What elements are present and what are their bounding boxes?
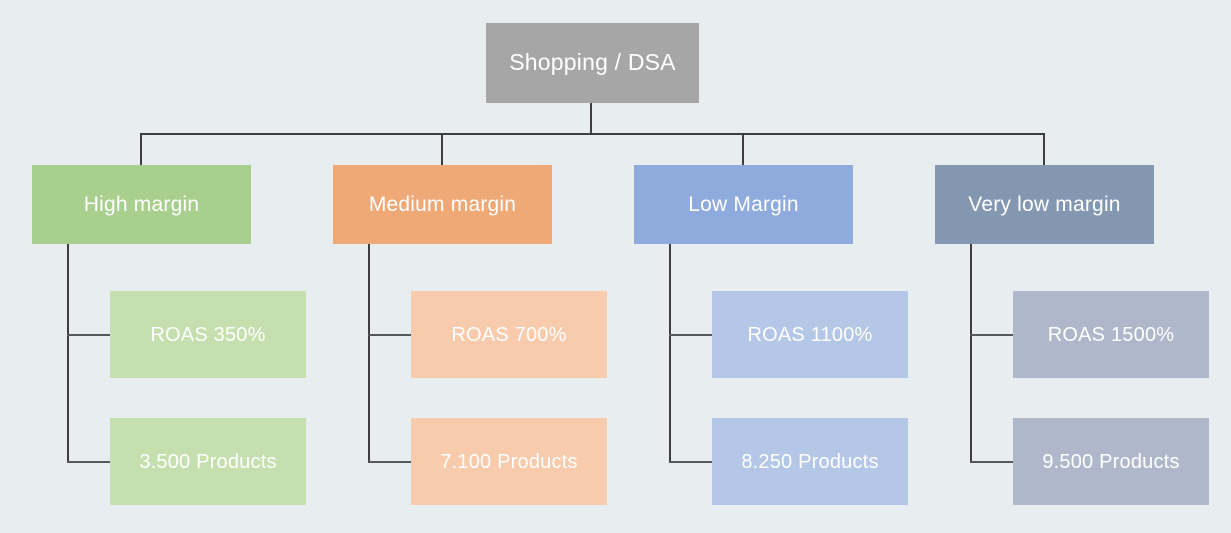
leaf-low-margin-roas[interactable]: ROAS 1100% xyxy=(712,291,908,378)
connector-drop-very-low-margin xyxy=(1043,133,1045,165)
connector-stub-very-low-margin-products xyxy=(970,461,1014,463)
connector-stub-low-margin-roas xyxy=(669,334,713,336)
connector-level1-bus xyxy=(140,133,1045,135)
leaf-medium-margin-roas[interactable]: ROAS 700% xyxy=(411,291,607,378)
node-very-low-margin[interactable]: Very low margin xyxy=(935,165,1154,244)
leaf-medium-margin-products[interactable]: 7.100 Products xyxy=(411,418,607,505)
connector-stub-very-low-margin-roas xyxy=(970,334,1014,336)
connector-drop-low-margin xyxy=(742,133,744,165)
connector-stub-medium-margin-roas xyxy=(368,334,412,336)
leaf-high-margin-roas[interactable]: ROAS 350% xyxy=(110,291,306,378)
connector-spine-very-low-margin xyxy=(970,244,972,462)
connector-drop-medium-margin xyxy=(441,133,443,165)
node-low-margin[interactable]: Low Margin xyxy=(634,165,853,244)
leaf-high-margin-products[interactable]: 3.500 Products xyxy=(110,418,306,505)
leaf-very-low-margin-roas[interactable]: ROAS 1500% xyxy=(1013,291,1209,378)
connector-root-stem xyxy=(590,103,592,134)
leaf-low-margin-products[interactable]: 8.250 Products xyxy=(712,418,908,505)
connector-stub-high-margin-products xyxy=(67,461,111,463)
connector-stub-medium-margin-products xyxy=(368,461,412,463)
node-root-shopping-dsa[interactable]: Shopping / DSA xyxy=(486,23,699,103)
diagram-canvas: Shopping / DSA High margin Medium margin… xyxy=(0,0,1231,533)
leaf-very-low-margin-products[interactable]: 9.500 Products xyxy=(1013,418,1209,505)
node-medium-margin[interactable]: Medium margin xyxy=(333,165,552,244)
connector-drop-high-margin xyxy=(140,133,142,165)
connector-stub-low-margin-products xyxy=(669,461,713,463)
node-high-margin[interactable]: High margin xyxy=(32,165,251,244)
connector-spine-medium-margin xyxy=(368,244,370,462)
connector-stub-high-margin-roas xyxy=(67,334,111,336)
connector-spine-low-margin xyxy=(669,244,671,462)
connector-spine-high-margin xyxy=(67,244,69,462)
